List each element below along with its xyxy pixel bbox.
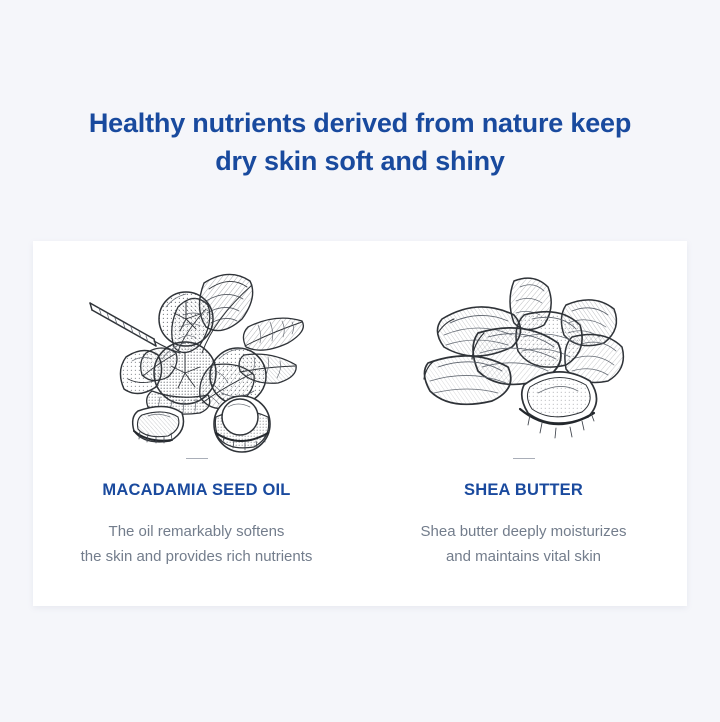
ingredient-column-shea: SHEA BUTTER Shea butter deeply moisturiz… bbox=[360, 241, 687, 606]
ingredient-column-macadamia: MACADAMIA SEED OIL The oil remarkably so… bbox=[33, 241, 360, 606]
desc-line-2: and maintains vital skin bbox=[421, 544, 627, 569]
ingredients-card: MACADAMIA SEED OIL The oil remarkably so… bbox=[33, 241, 687, 606]
shea-nuts-illustration bbox=[416, 267, 631, 447]
desc-line-1: Shea butter deeply moisturizes bbox=[421, 519, 627, 544]
ingredient-title-macadamia: MACADAMIA SEED OIL bbox=[102, 481, 290, 500]
ingredient-title-shea: SHEA BUTTER bbox=[464, 481, 583, 500]
ingredients-columns: MACADAMIA SEED OIL The oil remarkably so… bbox=[33, 241, 687, 606]
ingredient-desc-macadamia: The oil remarkably softens the skin and … bbox=[81, 519, 313, 569]
headline-line-2: dry skin soft and shiny bbox=[0, 142, 720, 180]
title-divider bbox=[186, 458, 208, 459]
desc-line-2: the skin and provides rich nutrients bbox=[81, 544, 313, 569]
ingredient-desc-shea: Shea butter deeply moisturizes and maint… bbox=[421, 519, 627, 569]
shea-butter-cracked-nut bbox=[520, 371, 597, 437]
macadamia-illustration-wrap bbox=[33, 259, 360, 454]
page-headline: Healthy nutrients derived from nature ke… bbox=[0, 104, 720, 180]
shea-nut-front-left bbox=[424, 355, 511, 403]
headline-line-1: Healthy nutrients derived from nature ke… bbox=[0, 104, 720, 142]
nut-left bbox=[120, 350, 161, 393]
shea-illustration-wrap bbox=[360, 259, 687, 454]
nut-in-shell bbox=[214, 396, 270, 452]
macadamia-nuts-illustration bbox=[82, 261, 312, 453]
leaf-right-upper bbox=[243, 318, 303, 350]
title-divider bbox=[513, 458, 535, 459]
nut-top bbox=[159, 292, 213, 346]
cracked-shell-left bbox=[132, 406, 183, 443]
desc-line-1: The oil remarkably softens bbox=[81, 519, 313, 544]
